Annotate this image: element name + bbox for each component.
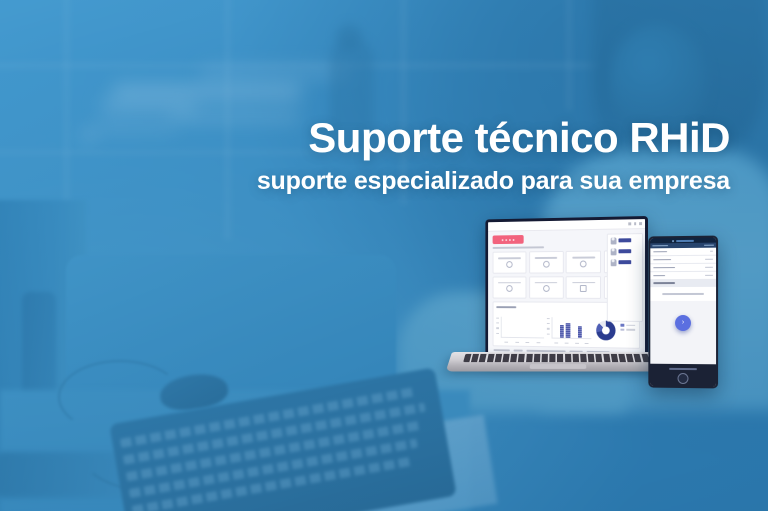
phone-empty-state <box>650 287 716 301</box>
laptop-keyboard[interactable] <box>463 354 653 362</box>
line-chart <box>496 312 544 343</box>
phone-screen: › <box>650 238 716 387</box>
bottom-bar-label <box>650 368 716 372</box>
side-row-tag <box>618 260 631 264</box>
dashboard-card[interactable] <box>566 276 601 299</box>
phone-list <box>650 248 716 280</box>
laptop-base <box>446 352 671 372</box>
laptop-trackpad[interactable] <box>530 364 587 369</box>
user-icon[interactable] <box>639 222 642 225</box>
laptop-screen <box>488 219 645 356</box>
laptop-device <box>470 216 660 391</box>
bar-chart-bars <box>560 317 588 338</box>
app-bar-action[interactable] <box>704 244 714 246</box>
stats-panel-title <box>496 306 516 308</box>
app-bar-title <box>652 245 668 247</box>
badge-dot <box>502 239 504 241</box>
page-subtitle: suporte especializado para sua empresa <box>90 166 730 196</box>
dashboard-card[interactable] <box>529 251 564 274</box>
line-chart-y-axis <box>496 318 500 338</box>
badge-dot <box>513 239 515 241</box>
badge-dot <box>509 239 511 241</box>
dashboard-side-panel <box>607 233 643 322</box>
phone-bottom-bar <box>650 364 716 387</box>
dashboard-card[interactable] <box>566 251 601 274</box>
dashboard-card[interactable] <box>493 251 527 273</box>
page-title: Suporte técnico RHiD <box>90 114 730 162</box>
dashboard-topbar-icons[interactable] <box>628 222 642 225</box>
banner-stage: Suporte técnico RHiD suporte especializa… <box>0 0 768 511</box>
gear-icon[interactable] <box>628 222 631 225</box>
side-panel-row[interactable] <box>610 259 639 266</box>
bar <box>560 325 564 338</box>
avatar <box>610 237 616 244</box>
side-panel-row[interactable] <box>610 237 639 244</box>
bar <box>566 323 570 337</box>
avatar <box>610 248 616 255</box>
side-panel-row[interactable] <box>610 248 639 255</box>
status-title <box>676 239 694 241</box>
headline-block: Suporte técnico RHiD suporte especializa… <box>90 114 730 196</box>
bar-chart-x-axis <box>552 342 592 344</box>
bell-icon[interactable] <box>634 222 637 225</box>
bar-chart <box>547 312 592 344</box>
dashboard-card[interactable] <box>529 276 564 298</box>
chevron-right-icon[interactable]: › <box>675 315 691 331</box>
badge-dot <box>505 239 507 241</box>
dashboard-badge[interactable] <box>493 235 524 244</box>
dashboard-subtitle <box>493 246 544 249</box>
signal-icon <box>672 240 674 242</box>
bar <box>578 326 582 338</box>
home-button[interactable] <box>678 373 689 384</box>
bar-chart-y-axis <box>547 318 551 338</box>
line-chart-plot <box>501 317 544 339</box>
phone-device: › <box>648 236 718 389</box>
line-chart-x-axis <box>501 341 544 343</box>
side-row-tag <box>618 238 631 242</box>
donut-ring <box>597 321 616 341</box>
laptop-lid <box>485 216 648 361</box>
section-title <box>653 282 675 284</box>
side-row-tag <box>618 249 631 253</box>
bar-chart-plot <box>552 317 592 339</box>
dashboard <box>488 219 645 356</box>
avatar <box>610 259 616 266</box>
dashboard-card[interactable] <box>493 276 527 298</box>
phone-canvas: › <box>650 300 716 336</box>
empty-state-text <box>662 293 704 295</box>
